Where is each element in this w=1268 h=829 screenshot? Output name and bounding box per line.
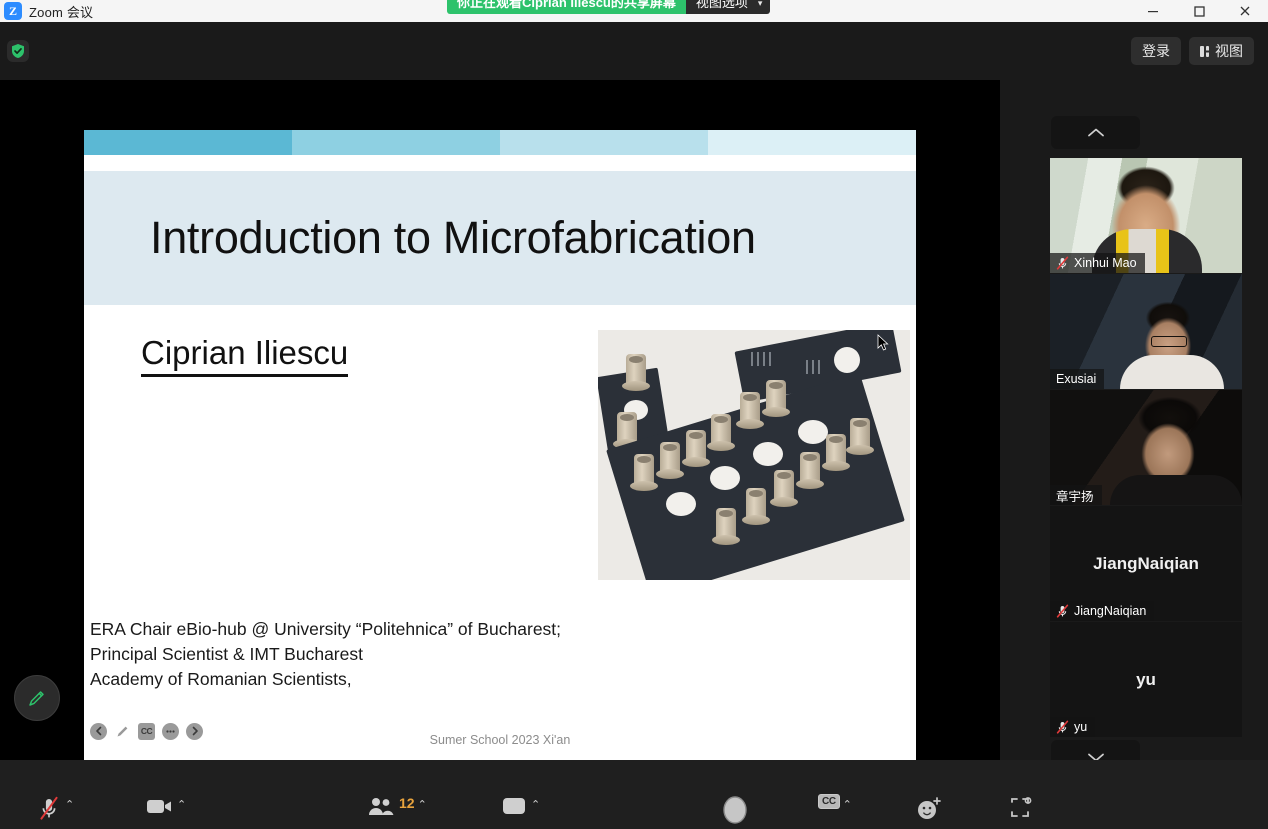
mouse-cursor bbox=[877, 334, 889, 352]
participant-tile[interactable]: Xinhui Mao bbox=[1050, 158, 1242, 273]
login-label: 登录 bbox=[1142, 41, 1170, 61]
page-title: Introduction to Microfabrication bbox=[150, 212, 756, 264]
meeting-header: 登录 视图 bbox=[0, 22, 1268, 80]
accent-segment bbox=[84, 130, 292, 155]
more-options-button[interactable] bbox=[162, 723, 179, 740]
microphone-muted-icon bbox=[1056, 604, 1069, 618]
participant-tile[interactable]: 章宇扬 bbox=[1050, 390, 1242, 505]
participant-filmstrip: Xinhui Mao Exusiai 章宇扬 JiangNaiqian Jian… bbox=[1000, 80, 1268, 760]
participant-name-tag: Xinhui Mao bbox=[1050, 253, 1145, 273]
affiliation-line: Academy of Romanian Scientists, bbox=[90, 667, 650, 692]
participant-name-tag: JiangNaiqian bbox=[1050, 601, 1154, 621]
participant-tile[interactable]: JiangNaiqian JiangNaiqian bbox=[1050, 506, 1242, 621]
audio-options-caret[interactable]: ⌃ bbox=[65, 798, 74, 811]
microfluidic-chip-array-photo bbox=[598, 330, 910, 580]
chevron-up-icon bbox=[1086, 127, 1106, 139]
accent-segment bbox=[708, 130, 916, 155]
closed-captions-button[interactable]: CC ⌃ bbox=[818, 794, 852, 829]
affiliation-line: ERA Chair eBio-hub @ University “Politeh… bbox=[90, 617, 650, 642]
participants-button[interactable]: 12 ⌃ bbox=[366, 794, 427, 829]
slide-affiliation: ERA Chair eBio-hub @ University “Politeh… bbox=[90, 617, 650, 692]
shared-screen-stage[interactable]: Introduction to Microfabrication Ciprian… bbox=[0, 80, 1000, 760]
participant-name: JiangNaiqian bbox=[1074, 604, 1146, 618]
record-button[interactable] bbox=[719, 794, 751, 829]
video-camera-icon bbox=[144, 794, 174, 818]
microphone-muted-icon bbox=[1056, 720, 1069, 734]
chevron-down-icon: ▾ bbox=[758, 0, 763, 14]
view-options-label: 视图选项 bbox=[696, 0, 748, 14]
screen-share-message: 你正在观看Ciprian Iliescu的共享屏幕 bbox=[447, 0, 686, 14]
mute-audio-button[interactable]: ⌃ bbox=[36, 794, 74, 829]
window-title: Zoom 会议 bbox=[29, 2, 93, 21]
slide-title-band: Introduction to Microfabrication bbox=[84, 171, 916, 305]
chat-caret[interactable]: ⌃ bbox=[531, 798, 540, 811]
microphone-muted-icon bbox=[1056, 256, 1069, 270]
accent-segment bbox=[292, 130, 500, 155]
slide-footer-text: Sumer School 2023 Xi'an bbox=[84, 733, 916, 747]
slide-author: Ciprian Iliescu bbox=[141, 336, 348, 377]
annotate-pencil-button[interactable] bbox=[14, 675, 60, 721]
reactions-smiley-icon bbox=[914, 794, 944, 824]
login-button[interactable]: 登录 bbox=[1131, 37, 1181, 65]
pencil-icon bbox=[27, 688, 47, 708]
start-video-button[interactable]: ⌃ bbox=[144, 794, 186, 829]
next-slide-button[interactable] bbox=[186, 723, 203, 740]
slide-accent-bar bbox=[84, 130, 916, 155]
participant-name: Exusiai bbox=[1056, 372, 1096, 386]
participant-name: Xinhui Mao bbox=[1074, 256, 1137, 270]
affiliation-line: Principal Scientist & IMT Bucharest bbox=[90, 642, 650, 667]
view-options-button[interactable]: 视图选项 ▾ bbox=[686, 0, 771, 14]
cc-label: CC bbox=[822, 796, 836, 807]
participants-caret[interactable]: ⌃ bbox=[418, 798, 427, 811]
filmstrip-scroll-up-button[interactable] bbox=[1051, 116, 1140, 149]
participants-icon bbox=[366, 794, 396, 818]
view-label: 视图 bbox=[1215, 41, 1243, 61]
closed-caption-button[interactable]: CC bbox=[138, 723, 155, 740]
participant-name: 章宇扬 bbox=[1056, 486, 1094, 505]
breakout-rooms-icon bbox=[1008, 794, 1036, 822]
view-layout-icon bbox=[1200, 46, 1209, 57]
participant-name-tag: Exusiai bbox=[1050, 369, 1104, 389]
zoom-logo-icon: Z bbox=[4, 2, 22, 20]
presentation-slide: Introduction to Microfabrication Ciprian… bbox=[84, 130, 916, 760]
draw-pen-button[interactable] bbox=[114, 723, 131, 740]
microphone-muted-icon bbox=[36, 794, 62, 824]
minimize-icon[interactable] bbox=[1130, 0, 1176, 22]
shield-check-icon[interactable] bbox=[7, 40, 29, 62]
screen-share-banner: 你正在观看Ciprian Iliescu的共享屏幕 视图选项 ▾ bbox=[447, 0, 770, 14]
participant-name-tag: 章宇扬 bbox=[1050, 485, 1102, 505]
breakout-rooms-button[interactable] bbox=[1008, 794, 1036, 829]
chat-bubble-icon bbox=[500, 794, 528, 818]
participant-tile[interactable]: yu yu bbox=[1050, 622, 1242, 737]
reactions-button[interactable] bbox=[914, 794, 944, 829]
previous-slide-button[interactable] bbox=[90, 723, 107, 740]
chat-button[interactable]: ⌃ bbox=[500, 794, 540, 829]
participant-name-tag: yu bbox=[1050, 717, 1095, 737]
participant-tile[interactable]: Exusiai bbox=[1050, 274, 1242, 389]
cc-icon: CC bbox=[818, 794, 840, 809]
video-options-caret[interactable]: ⌃ bbox=[177, 798, 186, 811]
participants-count: 12 bbox=[399, 795, 415, 811]
cc-label: CC bbox=[141, 726, 152, 736]
meeting-control-toolbar: ⌃ ⌃ 12 ⌃ ⌃ bbox=[0, 760, 1268, 829]
close-icon[interactable] bbox=[1222, 0, 1268, 22]
view-layout-button[interactable]: 视图 bbox=[1189, 37, 1254, 65]
participant-name: yu bbox=[1074, 720, 1087, 734]
record-circle-icon bbox=[719, 794, 751, 826]
captions-caret[interactable]: ⌃ bbox=[843, 798, 852, 811]
slide-navigation-toolbar[interactable]: CC bbox=[86, 718, 203, 744]
maximize-icon[interactable] bbox=[1176, 0, 1222, 22]
accent-segment bbox=[500, 130, 708, 155]
